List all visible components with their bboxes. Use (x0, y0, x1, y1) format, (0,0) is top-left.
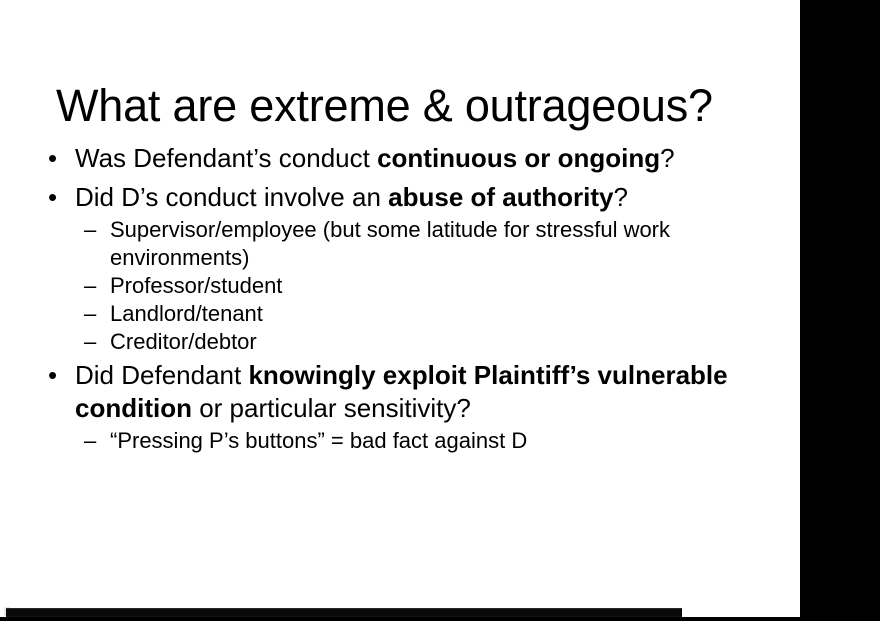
sub-bullet-list: –Supervisor/employee (but some latitude … (40, 216, 740, 356)
sub-bullet-item: –Creditor/debtor (40, 328, 740, 356)
bullet-marker-icon: • (48, 142, 57, 175)
bullet-text-plain: ? (660, 143, 674, 173)
bullet-text-plain: Was Defendant’s conduct (75, 143, 377, 173)
sub-bullet-text: Landlord/tenant (110, 301, 263, 326)
bullet-text-emphasis: abuse of authority (388, 182, 613, 212)
sub-bullet-item: –“Pressing P’s buttons” = bad fact again… (40, 427, 740, 455)
presentation-canvas: What are extreme & outrageous? •Was Defe… (0, 0, 880, 621)
sub-bullet-text: Creditor/debtor (110, 329, 257, 354)
bullet-text: Did Defendant knowingly exploit Plaintif… (75, 360, 728, 423)
bullet-marker-icon: • (48, 181, 57, 214)
sub-bullet-text: Professor/student (110, 273, 282, 298)
slide: What are extreme & outrageous? •Was Defe… (0, 0, 800, 617)
dash-marker-icon: – (84, 300, 96, 328)
sub-bullet-text: “Pressing P’s buttons” = bad fact agains… (110, 428, 527, 453)
dash-marker-icon: – (84, 272, 96, 300)
bottom-edge-rule (6, 608, 682, 617)
bullet-text: Was Defendant’s conduct continuous or on… (75, 143, 675, 173)
sub-bullet-item: –Professor/student (40, 272, 740, 300)
dash-marker-icon: – (84, 427, 96, 455)
sub-bullet-item: –Landlord/tenant (40, 300, 740, 328)
slide-title: What are extreme & outrageous? (56, 78, 786, 134)
bullet-item: •Did D’s conduct involve an abuse of aut… (40, 181, 740, 214)
bullet-text: Did D’s conduct involve an abuse of auth… (75, 182, 628, 212)
slide-body: •Was Defendant’s conduct continuous or o… (40, 142, 740, 458)
bullet-text-emphasis: continuous or ongoing (377, 143, 660, 173)
sub-bullet-text: Supervisor/employee (but some latitude f… (110, 217, 670, 270)
dash-marker-icon: – (84, 216, 96, 244)
bullet-marker-icon: • (48, 359, 57, 392)
bullet-text-plain: Did D’s conduct involve an (75, 182, 388, 212)
sub-bullet-item: –Supervisor/employee (but some latitude … (40, 216, 740, 272)
bullet-text-plain: Did Defendant (75, 360, 248, 390)
dash-marker-icon: – (84, 328, 96, 356)
slide-corner-notch (793, 0, 800, 5)
bullet-text-plain: or particular sensitivity? (192, 393, 471, 423)
sub-bullet-list: –“Pressing P’s buttons” = bad fact again… (40, 427, 740, 455)
bullet-item: •Did Defendant knowingly exploit Plainti… (40, 359, 740, 425)
bullet-text-plain: ? (614, 182, 628, 212)
bullet-item: •Was Defendant’s conduct continuous or o… (40, 142, 740, 175)
